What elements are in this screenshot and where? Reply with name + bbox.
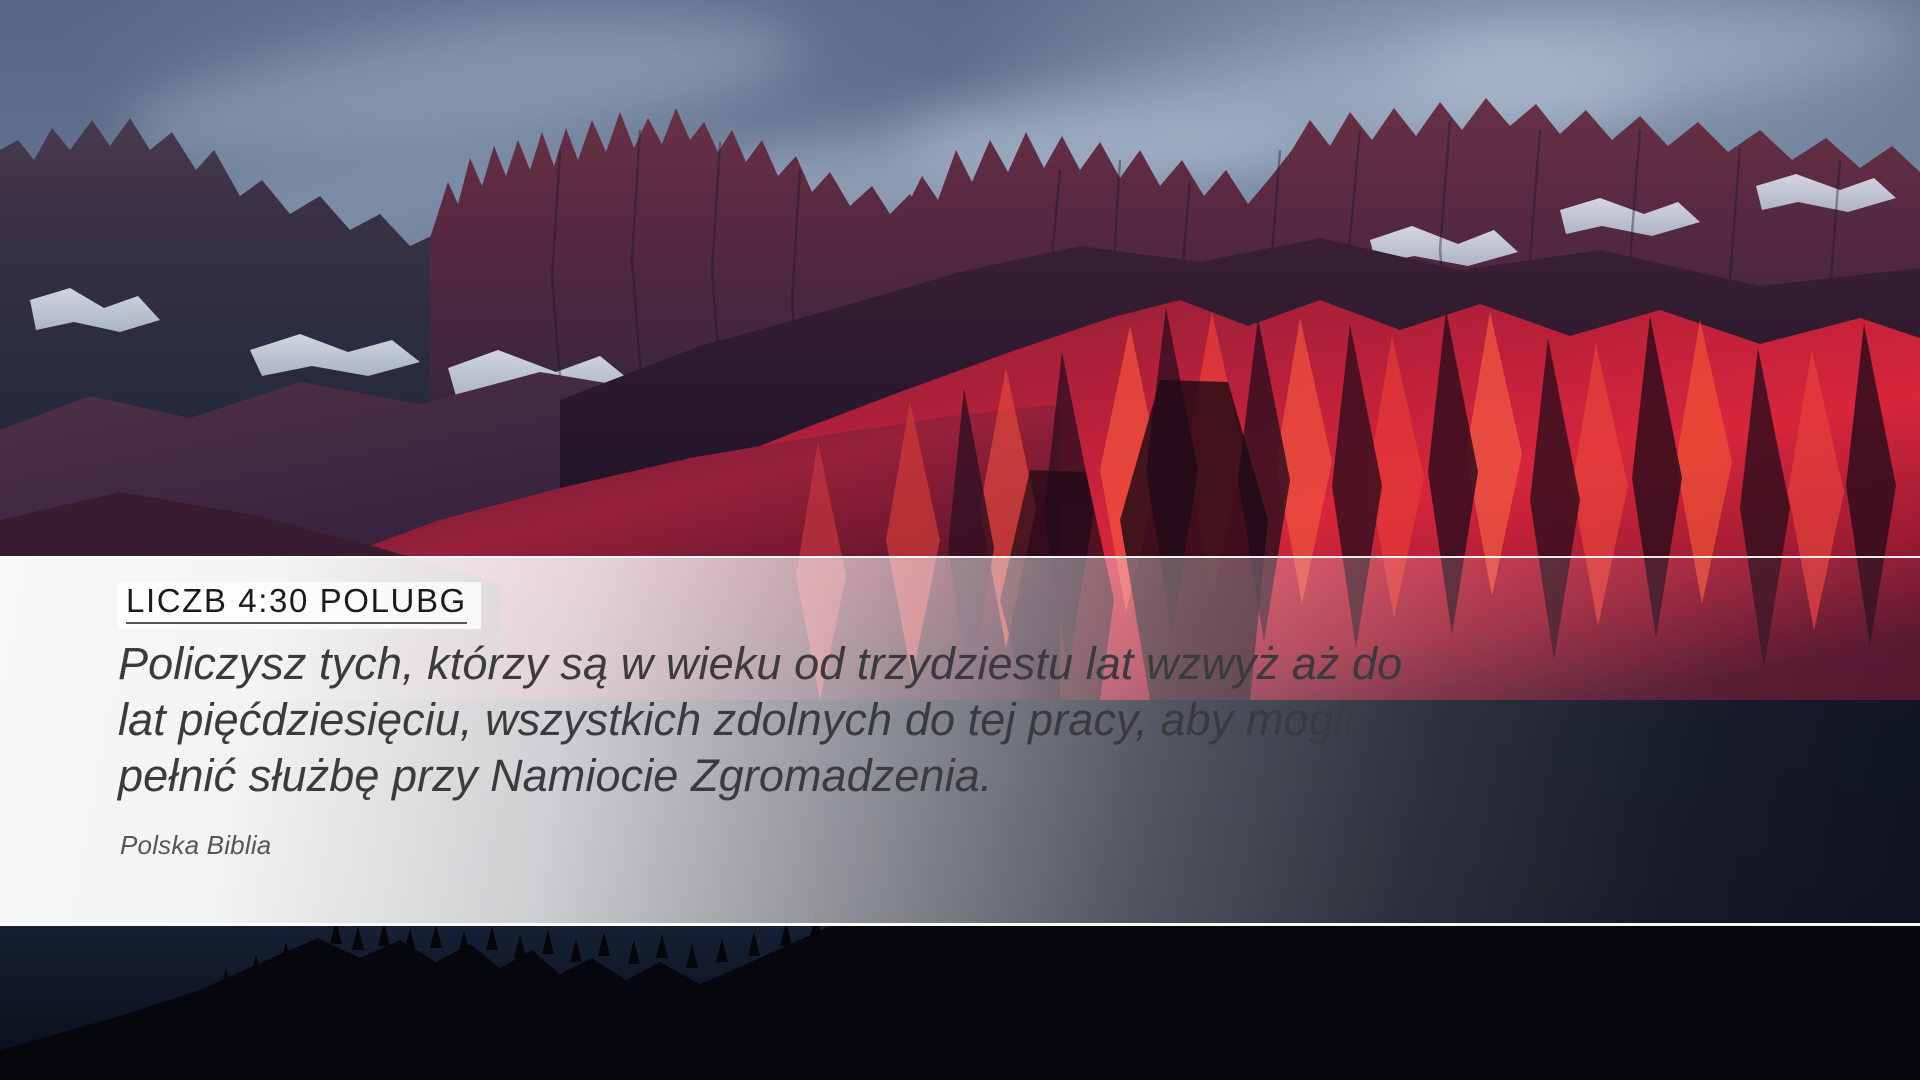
verse-image-card: LICZB 4:30 POLUBG Policzysz tych, którzy… [0,0,1920,1080]
verse-reference-badge: LICZB 4:30 POLUBG [118,582,481,629]
verse-overlay-panel: LICZB 4:30 POLUBG Policzysz tych, którzy… [0,556,1920,926]
verse-text: Policzysz tych, którzy są w wieku od trz… [118,636,1438,804]
verse-reference: LICZB 4:30 POLUBG [126,584,467,624]
bible-translation-attribution: Polska Biblia [120,830,271,861]
